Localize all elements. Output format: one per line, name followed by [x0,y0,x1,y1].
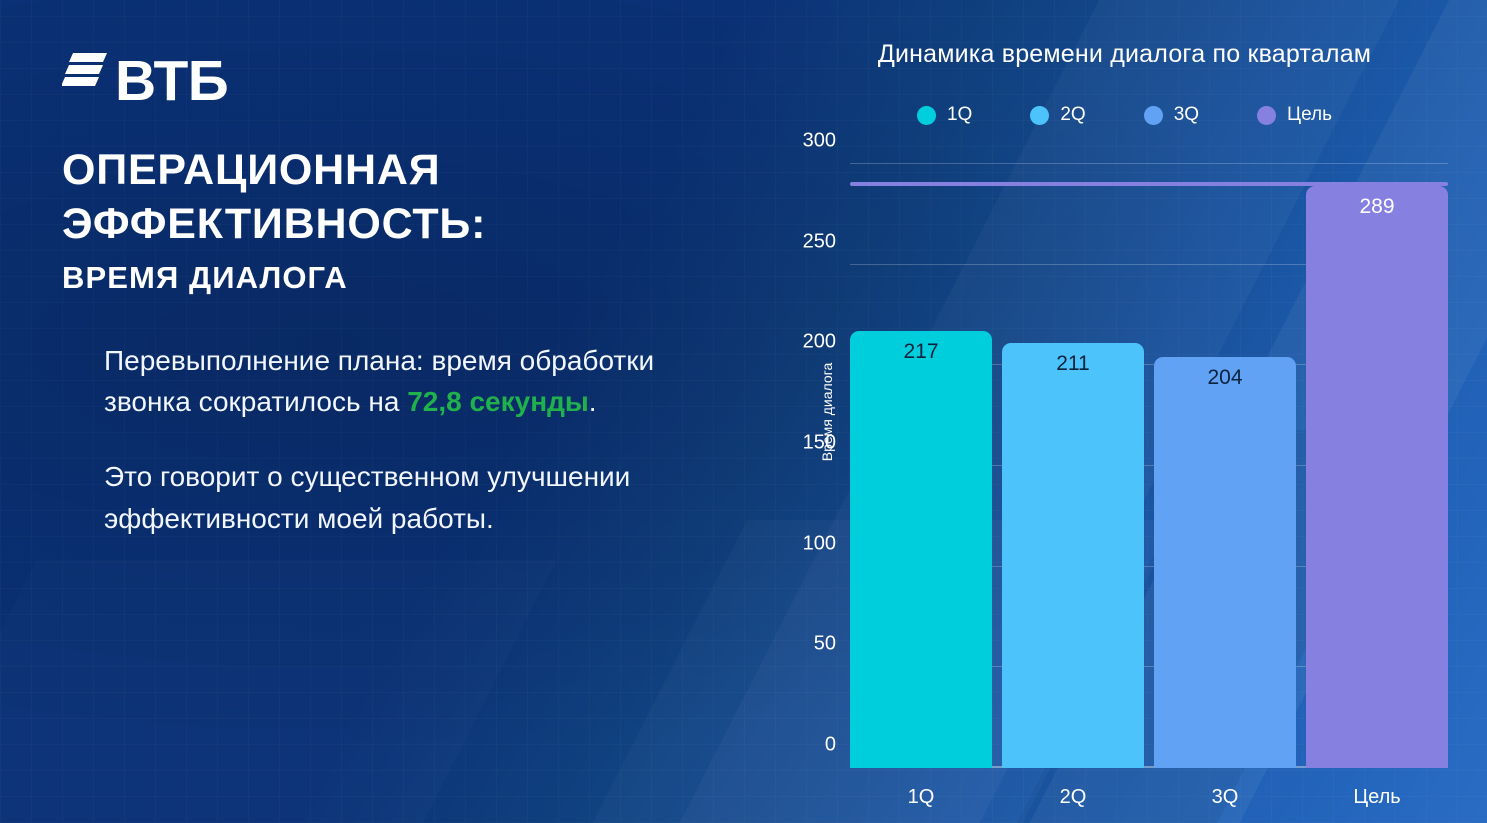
page-title-line-1: ОПЕРАЦИОННАЯ [62,144,720,198]
paragraph-1-text-after: . [589,386,597,417]
bar-series: 217 1Q 211 2Q 204 3Q [850,164,1448,768]
bar-slot-3q: 204 3Q [1154,164,1296,768]
legend-label: 3Q [1174,104,1199,126]
legend-item-2q[interactable]: 2Q [1030,104,1085,126]
vtb-bars-logo-icon [62,51,108,96]
y-axis-tick-0: 0 [825,734,836,757]
chart-legend: 1Q 2Q 3Q Цель [762,104,1487,126]
y-axis-tick-50: 50 [814,633,836,656]
bar-2q[interactable]: 211 [1002,343,1144,768]
highlight-metric: 72,8 секунды [407,386,589,417]
content-column: ВТБ ОПЕРАЦИОННАЯ ЭФФЕКТИВНОСТЬ: ВРЕМЯ ДИ… [0,0,760,823]
x-axis-tick-3q: 3Q [1154,786,1296,809]
plot-area: 300 250 200 150 100 50 0 217 1Q 211 [850,164,1448,768]
x-axis-tick-1q: 1Q [850,786,992,809]
x-axis-tick-2q: 2Q [1002,786,1144,809]
legend-label: 2Q [1060,104,1085,126]
legend-label: 1Q [947,104,972,126]
paragraph-2: Это говорит о существенном улучшении эфф… [104,456,720,539]
legend-color-swatch-icon [917,106,936,125]
chart-title: Динамика времени диалога по кварталам [762,40,1487,69]
y-axis-tick-150: 150 [803,432,836,455]
bar-target[interactable]: 289 [1306,186,1448,768]
bar-value-label: 204 [1154,366,1296,390]
bar-3q[interactable]: 204 [1154,357,1296,768]
bar-value-label: 289 [1306,195,1448,219]
legend-color-swatch-icon [1257,106,1276,125]
legend-label: Цель [1287,104,1332,126]
legend-color-swatch-icon [1144,106,1163,125]
legend-color-swatch-icon [1030,106,1049,125]
bar-chart: Динамика времени диалога по кварталам 1Q… [762,0,1487,823]
x-axis-tick-target: Цель [1306,786,1448,809]
body-text: Перевыполнение плана: время обработки зв… [62,340,720,540]
bar-slot-1q: 217 1Q [850,164,992,768]
page-title-line-2: ЭФФЕКТИВНОСТЬ: [62,198,720,252]
slide-root: ВТБ ОПЕРАЦИОННАЯ ЭФФЕКТИВНОСТЬ: ВРЕМЯ ДИ… [0,0,1487,823]
y-axis-tick-250: 250 [803,230,836,253]
legend-item-1q[interactable]: 1Q [917,104,972,126]
bar-1q[interactable]: 217 [850,331,992,768]
bar-slot-target: 289 Цель [1306,164,1448,768]
bar-value-label: 217 [850,340,992,364]
page-title: ОПЕРАЦИОННАЯ ЭФФЕКТИВНОСТЬ: [62,144,720,252]
y-axis-tick-100: 100 [803,532,836,555]
brand-logo: ВТБ [62,24,720,110]
legend-item-target[interactable]: Цель [1257,104,1332,126]
y-axis-tick-300: 300 [803,130,836,153]
legend-item-3q[interactable]: 3Q [1144,104,1199,126]
bar-value-label: 211 [1002,352,1144,376]
paragraph-1: Перевыполнение плана: время обработки зв… [104,340,720,423]
page-subtitle: ВРЕМЯ ДИАЛОГА [62,260,720,296]
bar-slot-2q: 211 2Q [1002,164,1144,768]
brand-name: ВТБ [115,53,228,110]
y-axis-tick-200: 200 [803,331,836,354]
